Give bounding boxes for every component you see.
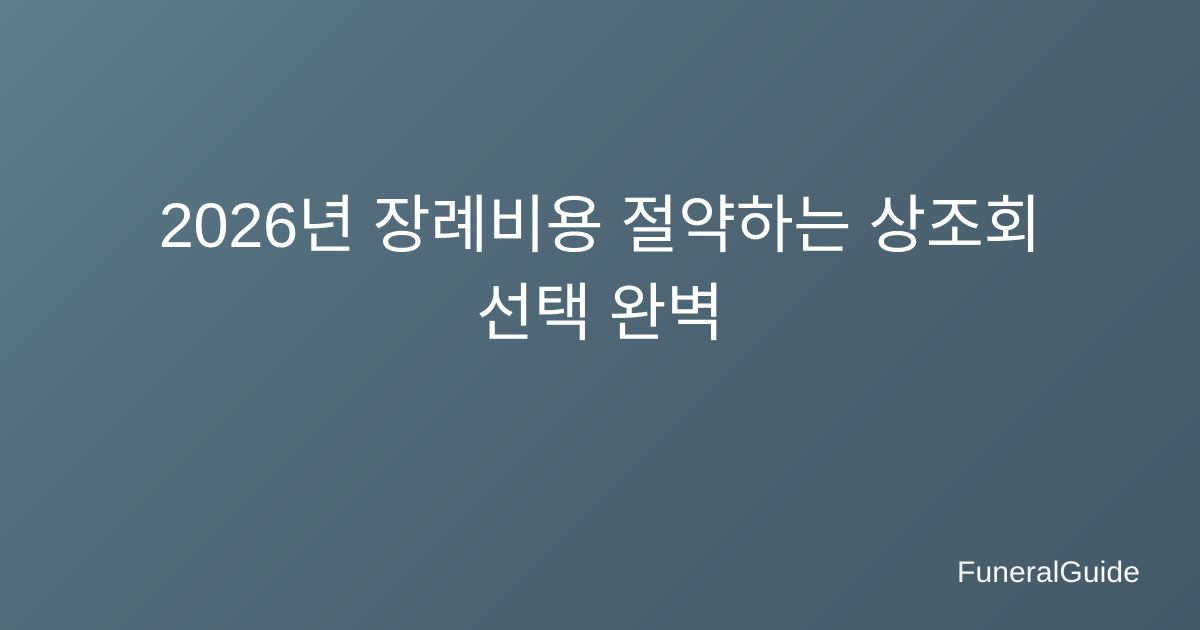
page-title: 2026년 장례비용 절약하는 상조회 선택 완벽	[100, 182, 1100, 358]
og-share-card: 2026년 장례비용 절약하는 상조회 선택 완벽 FuneralGuide	[0, 0, 1200, 630]
title-container: 2026년 장례비용 절약하는 상조회 선택 완벽	[0, 0, 1200, 540]
brand-label: FuneralGuide	[957, 558, 1140, 588]
